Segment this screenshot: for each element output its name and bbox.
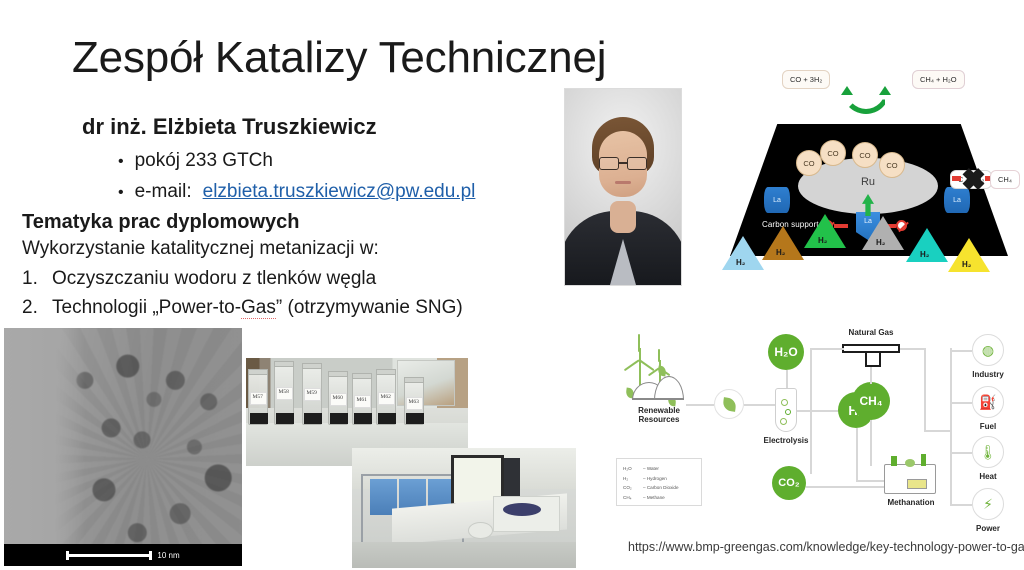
sample-jar: M63 [404,381,424,425]
flow-line [810,348,844,350]
contact-list: • pokój 233 GTCh • e-mail: elzbieta.trus… [118,146,475,208]
glasses-icon [599,157,647,170]
hydrogen-label: H₂ [818,236,827,245]
adsorbed-co-molecule: CO [820,140,846,166]
list-item-email: • e-mail: elzbieta.truszkiewicz@pw.edu.p… [118,177,475,208]
side-reaction-output-box: CH₄ [990,170,1020,189]
node-label-industry: Industry [956,370,1020,379]
lanthanum-promoter: La [764,187,790,213]
flow-line [950,452,972,454]
legend-symbol: CH₄ [623,493,643,503]
electrolysis-tube-icon [775,388,797,432]
tem-micrograph: 10 nm [4,328,242,566]
bullet-dot-icon: • [118,178,124,208]
adsorbed-co-molecule: CO [796,150,822,176]
jar-label: M63 [409,399,419,405]
hydrogen-label: H₂ [920,250,929,259]
legend-meaning: – Water [643,466,659,471]
legend-symbol: CO₂ [623,483,643,493]
methanation-plant-icon [884,464,936,494]
diagram-legend: H₂O– Water H₂– Hydrogen CO₂– Carbon Diox… [616,458,702,506]
jar-label: M62 [381,394,391,400]
legend-row: H₂– Hydrogen [623,474,695,484]
instrument-floor [352,542,576,568]
green-energy-icon [714,389,744,419]
scalebar-rule [66,554,152,557]
reaction-arrow-icon [842,88,890,114]
lab-instrument-photo [352,448,576,568]
flow-line [950,350,972,352]
node-label-natural-gas: Natural Gas [826,328,916,337]
droplet-icon: ◍ [972,334,1004,366]
slide-canvas: Zespół Katalizy Technicznej dr inż. Elżb… [0,0,1024,570]
fuel-pump-icon: ⛽ [972,386,1004,418]
tem-vacuum-edge [4,328,85,566]
page-title: Zespół Katalizy Technicznej [72,33,606,83]
topics-intro: Wykorzystanie katalitycznej metanizacji … [22,238,379,260]
node-ch4: CH₄ [852,382,890,420]
email-label: e-mail: [135,177,192,207]
bolt-icon: ⚡ [972,488,1004,520]
legend-symbol: H₂O [623,464,643,474]
legend-meaning: – Methane [643,495,665,500]
ground-line [632,398,684,400]
jar-label: M60 [333,395,343,401]
hydrogen-label: H₂ [776,248,785,257]
portrait-mouth [615,181,631,184]
scalebar-label: 10 nm [157,551,179,560]
adsorbed-co-molecule: CO [879,152,905,178]
legend-meaning: – Carbon Dioxide [643,485,679,490]
flow-line [924,348,926,430]
node-label-methanation: Methanation [872,498,950,507]
node-label-power: Power [956,524,1020,533]
list-item: 1. Oczyszczaniu wodoru z tlenków węgla [22,264,463,293]
legend-row: CO₂– Carbon Dioxide [623,483,695,493]
legend-row: CH₄– Methane [623,493,695,503]
flow-line [870,418,872,466]
source-url[interactable]: https://www.bmp-greengas.com/knowledge/k… [628,540,1024,554]
list-item: 2. Technologii „Power-to-Gas” (otrzymywa… [22,293,463,322]
email-link[interactable]: elzbieta.truszkiewicz@pw.edu.pl [203,177,476,207]
flow-line [924,430,950,432]
sample-jar: M61 [352,377,372,425]
node-co2: CO₂ [772,466,806,500]
power-to-gas-flow-diagram: RenewableResources H₂O Electrolysis H₂ C… [604,300,1024,530]
ruthenium-label: Ru [798,176,938,188]
jar-label: M59 [307,390,317,396]
person-name: dr inż. Elżbieta Truszkiewicz [82,114,377,140]
room-text: pokój 233 GTCh [135,146,273,176]
list-index: 1. [22,264,42,293]
tem-scalebar: 10 nm [4,544,242,566]
lanthanum-promoter: La [944,187,970,213]
mouse-pad [468,522,493,539]
hydrogen-label: H₂ [736,258,745,267]
hydrogen-label: H₂ [876,238,885,247]
flow-line [686,404,714,406]
flow-line [810,348,812,474]
list-index: 2. [22,293,42,322]
natural-gas-pipe-icon [842,344,900,353]
flow-line [856,480,884,482]
node-label-renewables: RenewableResources [612,406,706,424]
sample-jar: M62 [376,373,396,425]
portrait-neck [610,201,636,233]
jar-label: M58 [279,389,289,395]
flow-line [806,486,884,488]
node-label-fuel: Fuel [956,422,1020,431]
sample-jar: M60 [328,375,348,425]
text-post: ” (otrzymywanie SNG) [276,297,463,318]
sample-jar: M57 [248,373,268,425]
node-label-heat: Heat [956,472,1020,481]
adsorbed-co-molecule: CO [852,142,878,168]
flow-line [900,348,924,350]
portrait-photo [564,88,682,286]
topics-heading: Tematyka prac dyplomowych [22,211,300,234]
flow-line [950,348,952,506]
reaction-output-box: CH₄ + H₂O [912,70,965,89]
analyzer-cabinet [493,496,560,532]
list-item-room: • pokój 233 GTCh [118,146,475,177]
flow-line [797,410,841,412]
catalyst-mechanism-diagram: CO + 3H₂ CH₄ + H₂O Carbon support Ru CO … [716,52,1022,288]
reaction-blocked-x-icon [960,168,986,190]
thermometer-icon: 🌡 [972,436,1004,468]
legend-row: H₂O– Water [623,464,695,474]
bullet-dot-icon: • [118,147,124,177]
list-item-text: Oczyszczaniu wodoru z tlenków węgla [52,264,376,293]
flow-line [950,504,972,506]
spellcheck-flagged-word: Gas [241,297,276,319]
sample-jar: M58 [274,365,294,425]
reaction-input-box: CO + 3H₂ [782,70,830,89]
flow-line [786,370,788,390]
sample-jar: M59 [302,367,322,425]
flow-line [950,402,972,404]
list-item-text: Technologii „Power-to-Gas” (otrzymywanie… [52,293,463,322]
jar-label: M57 [253,394,263,400]
hydrogen-label: H₂ [962,260,971,269]
jar-label: M61 [357,397,367,403]
text-pre: Technologii „Power-to- [52,297,241,318]
flow-line [856,428,858,480]
legend-meaning: – Hydrogen [643,476,667,481]
node-h2o: H₂O [768,334,804,370]
legend-symbol: H₂ [623,474,643,484]
topics-list: 1. Oczyszczaniu wodoru z tlenków węgla 2… [22,264,463,322]
